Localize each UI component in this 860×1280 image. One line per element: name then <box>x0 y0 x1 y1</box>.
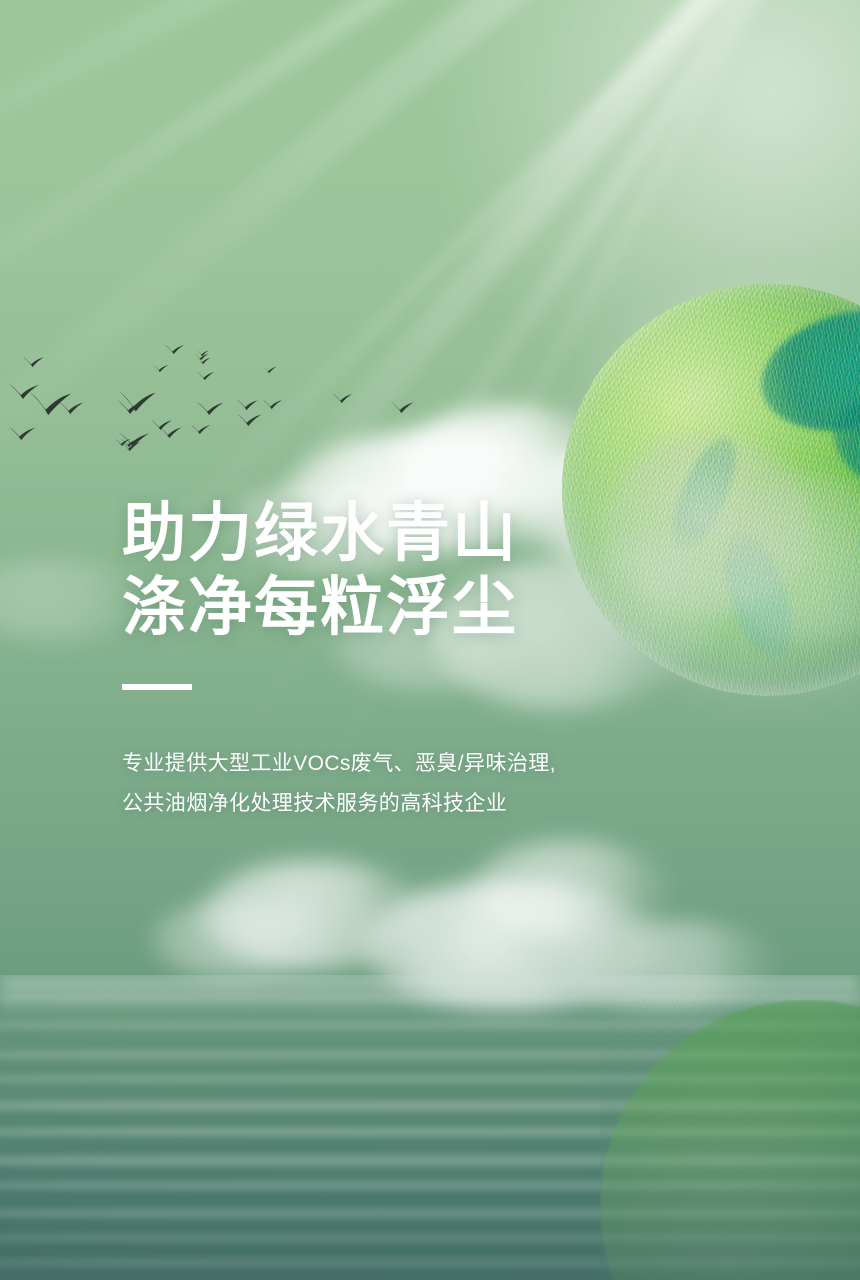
cloud-icon <box>150 900 330 980</box>
bird-icon <box>58 400 86 415</box>
bird-icon <box>262 398 284 410</box>
bird-icon <box>236 398 260 411</box>
headline-line-1: 助力绿水青山 <box>122 496 556 570</box>
bird-icon <box>118 430 152 449</box>
reflection-fade-mask <box>600 1000 860 1280</box>
bird-icon <box>196 400 226 416</box>
bird-icon <box>114 437 132 447</box>
bird-icon <box>118 390 158 412</box>
bird-icon <box>236 412 264 427</box>
bird-icon <box>390 400 416 414</box>
bird-icon <box>28 390 74 416</box>
bird-icon <box>196 349 210 357</box>
bird-icon <box>190 423 212 435</box>
bird-icon <box>332 392 354 404</box>
eco-hero-poster: 助力绿水青山 涤净每粒浮尘 专业提供大型工业VOCs废气、恶臭/异味治理, 公共… <box>0 0 860 1280</box>
grass-earth-globe <box>562 284 860 696</box>
bird-icon <box>196 370 216 381</box>
bird-icon <box>150 418 174 431</box>
cloud-icon <box>200 860 430 970</box>
bird-icon <box>164 343 186 355</box>
headline-line-2: 涤净每粒浮尘 <box>122 570 556 644</box>
bird-icon <box>116 398 148 415</box>
divider-rule <box>122 684 192 690</box>
bird-icon <box>196 356 212 365</box>
light-ray <box>0 0 794 230</box>
bird-icon <box>8 425 38 441</box>
bird-icon <box>120 440 142 452</box>
bird-icon <box>152 363 170 373</box>
bird-icon <box>8 382 42 400</box>
bird-icon <box>262 365 278 374</box>
cloud-icon <box>470 840 670 940</box>
globe-water-reflection <box>600 1000 860 1280</box>
subtitle-block: 专业提供大型工业VOCs废气、恶臭/异味治理, 公共油烟净化处理技术服务的高科技… <box>122 744 556 822</box>
bird-icon <box>120 437 140 448</box>
subtitle-line-1: 专业提供大型工业VOCs废气、恶臭/异味治理, <box>122 744 556 783</box>
hero-copy-block: 助力绿水青山 涤净每粒浮尘 专业提供大型工业VOCs废气、恶臭/异味治理, 公共… <box>122 496 556 823</box>
bird-icon <box>194 352 210 361</box>
bird-icon <box>158 425 184 439</box>
subtitle-line-2: 公共油烟净化处理技术服务的高科技企业 <box>122 784 556 823</box>
bird-icon <box>22 355 46 368</box>
